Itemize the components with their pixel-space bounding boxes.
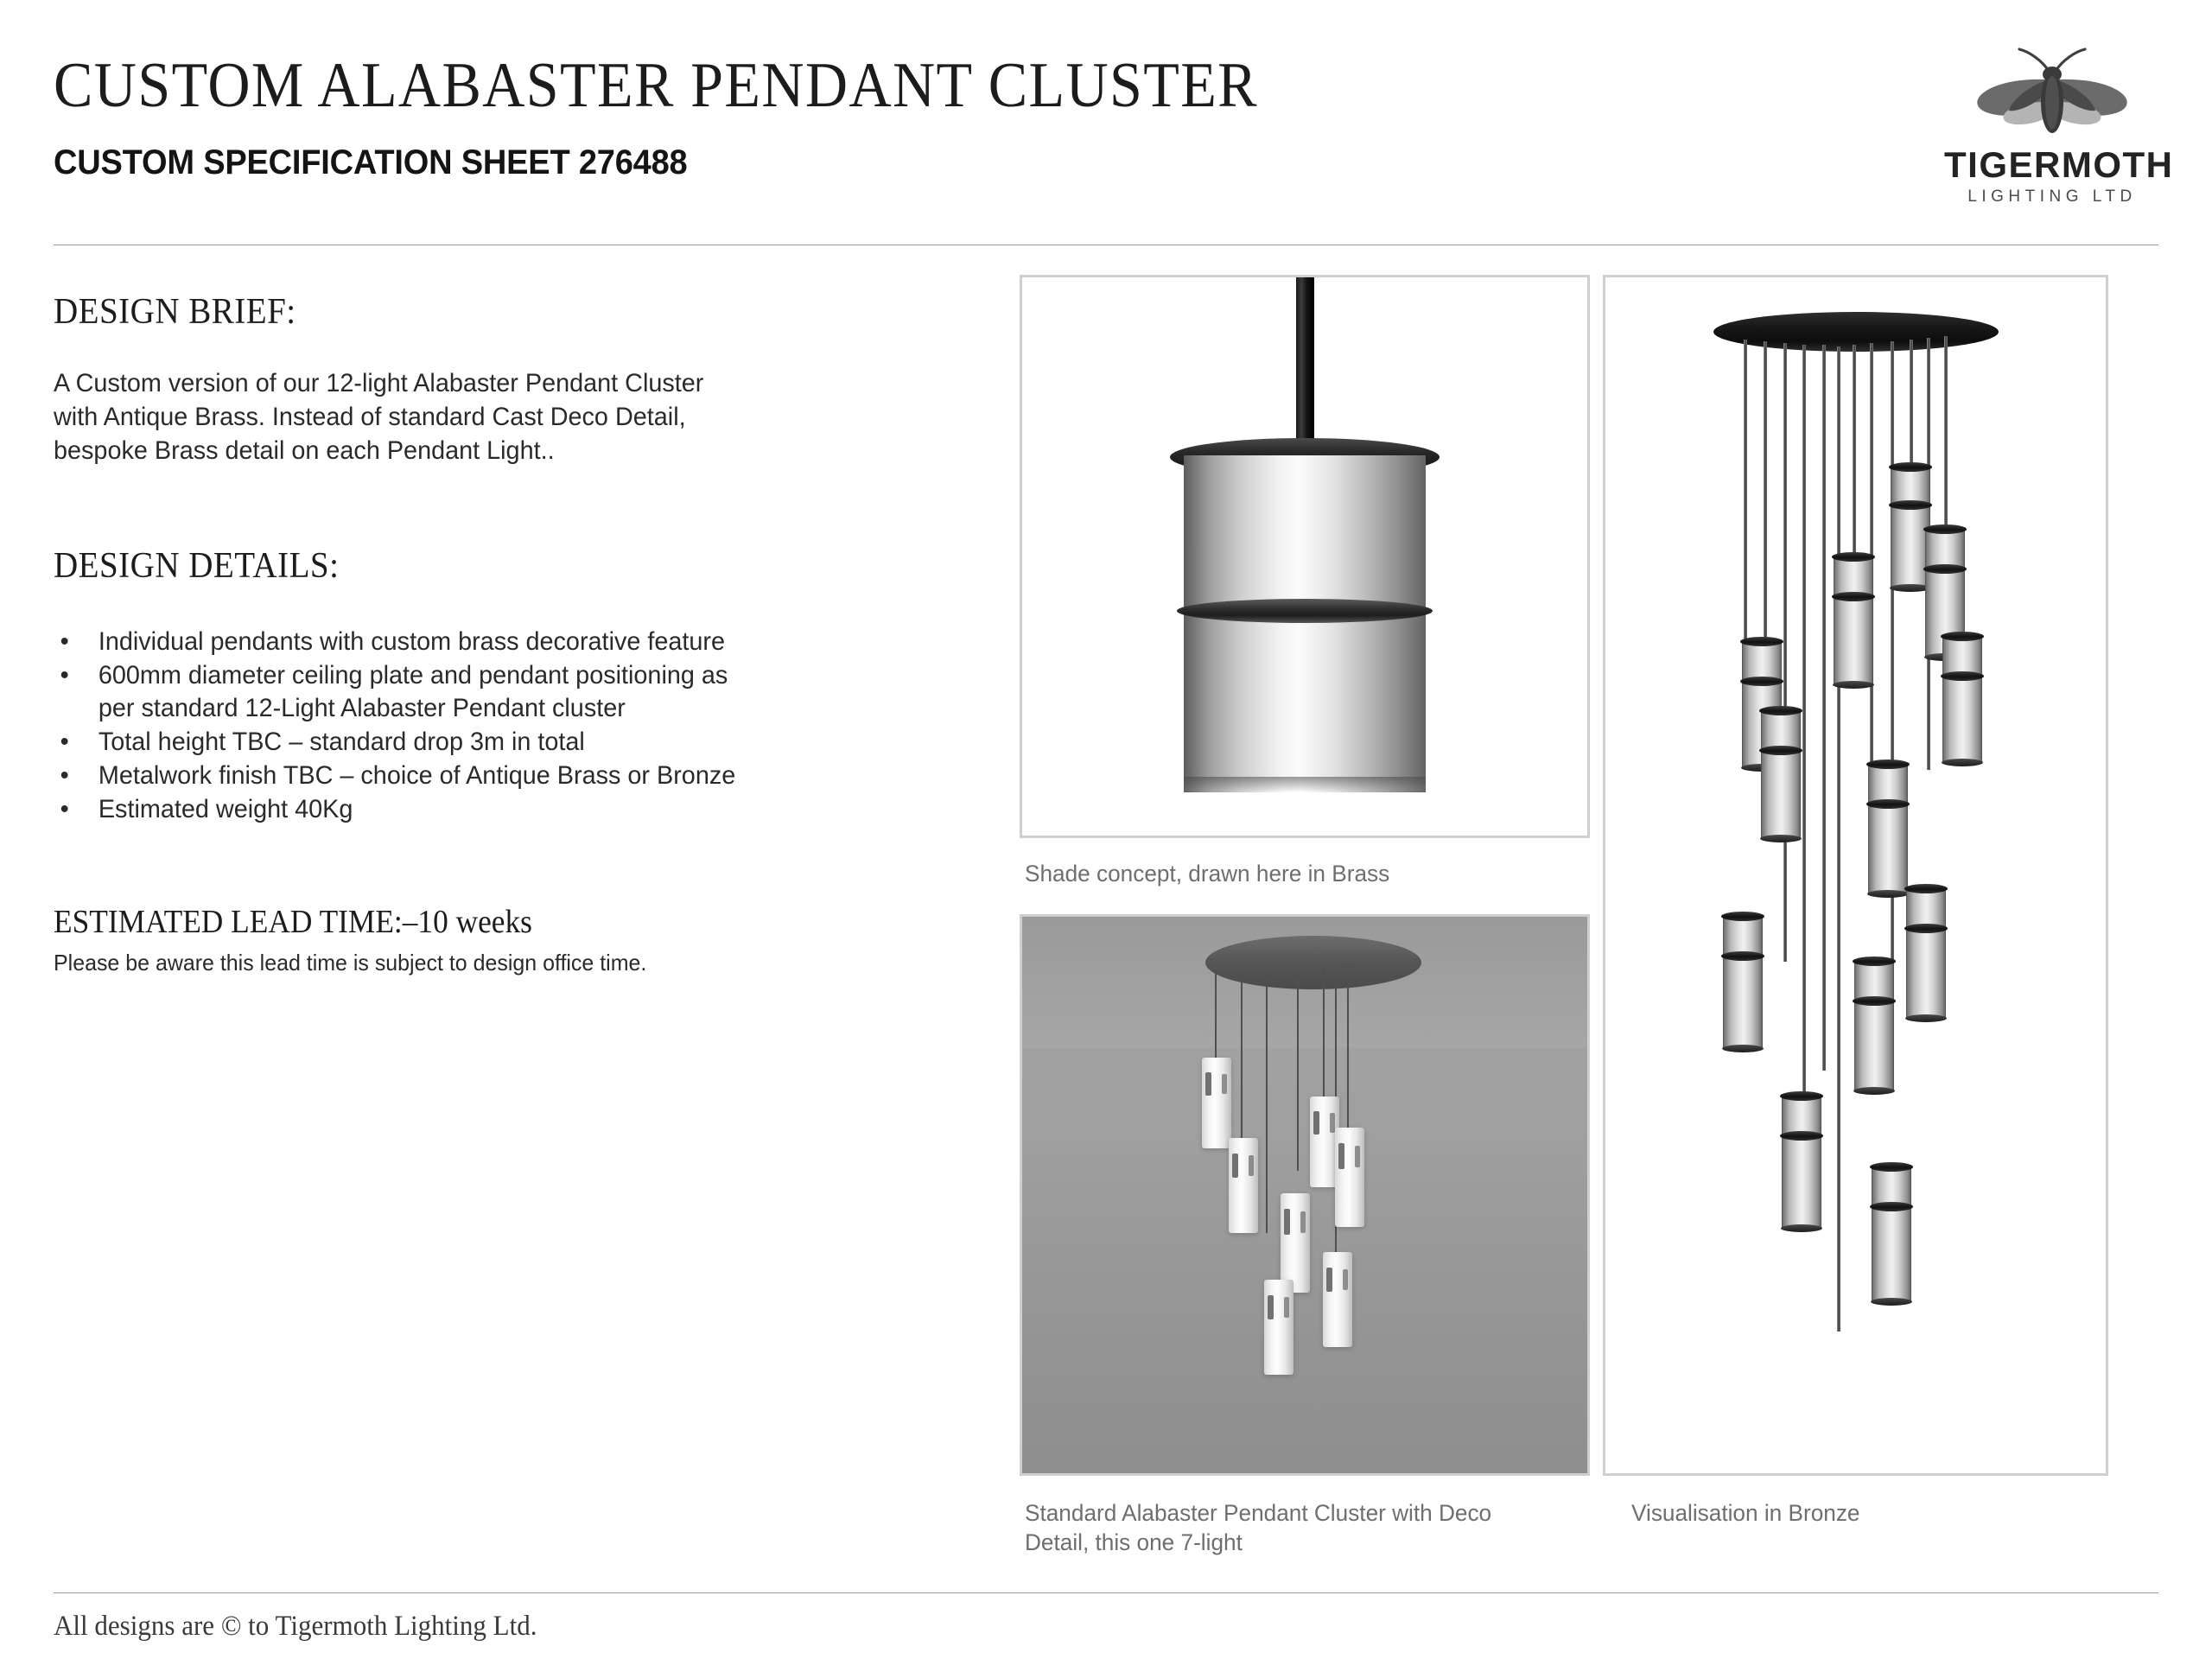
standard-cluster-photo-caption: Standard Alabaster Pendant Cluster with … — [1025, 1498, 1603, 1557]
list-item: • Estimated weight 40Kg — [54, 793, 916, 826]
visualisation-pendant — [1906, 887, 1946, 1019]
visualisation-pendant — [1872, 1166, 1911, 1302]
shade-cylinder — [1184, 455, 1426, 792]
lead-time-block: ESTIMATED LEAD TIME:–10 weeks Please be … — [54, 906, 952, 976]
pendant-band-mid — [1721, 951, 1764, 961]
list-item-text: Metalwork finish TBC – choice of Antique… — [99, 761, 735, 790]
list-item-text-cont: per standard 12-Light Alabaster Pendant … — [99, 692, 917, 725]
pendant-band-top — [1780, 1091, 1823, 1101]
pendant-band-top — [1870, 1162, 1913, 1172]
list-item-text: Total height TBC – standard drop 3m in t… — [99, 728, 585, 756]
photo-cable — [1215, 969, 1217, 1059]
visualisation-rod — [1783, 343, 1787, 962]
pendant-band-top — [1759, 706, 1802, 715]
pendant-band-mid — [1832, 592, 1875, 601]
pendant-band-bottom — [1942, 759, 1983, 766]
lead-time-note: Please be aware this lead time is subjec… — [54, 949, 916, 976]
pendant-band-mid — [1923, 564, 1967, 574]
shade-concept-drawing — [1022, 277, 1587, 836]
pendant-band-mid — [1740, 677, 1783, 686]
pendant-band-bottom — [1781, 1224, 1822, 1232]
suspension-rod — [1296, 277, 1314, 450]
pendant-band-bottom — [1867, 890, 1909, 898]
pendant-band-bottom — [1760, 835, 1802, 842]
logo-wordmark: TIGERMOTH — [1944, 147, 2160, 183]
visualisation-pendant — [1782, 1095, 1821, 1229]
photo-pendant-shade — [1202, 1058, 1231, 1148]
pendant-band-top — [1866, 760, 1910, 769]
list-item: • Metalwork finish TBC – choice of Antiq… — [54, 760, 916, 792]
bullet-marker: • — [60, 659, 69, 692]
pendant-band-mid — [1853, 996, 1896, 1006]
left-content-column: DESIGN BRIEF: A Custom version of our 12… — [54, 294, 952, 976]
lead-time-heading: ESTIMATED LEAD TIME:–10 weeks — [54, 906, 889, 938]
visualisation-pendant — [1761, 709, 1801, 839]
pendant-band-mid — [1904, 924, 1948, 933]
visualisation-rod — [1837, 346, 1840, 1332]
pendant-band-bottom — [1722, 1045, 1764, 1052]
visualisation-rod — [1822, 345, 1826, 1071]
pendant-band-bottom — [1853, 1087, 1895, 1095]
bronze-visualisation-drawing — [1605, 277, 2106, 1473]
caption-line: Standard Alabaster Pendant Cluster with … — [1025, 1498, 1603, 1528]
standard-cluster-photo — [1022, 917, 1587, 1473]
pendant-band-mid — [1870, 1202, 1913, 1211]
visualisation-rod — [1891, 341, 1894, 998]
bullet-marker: • — [60, 793, 69, 826]
photo-cable — [1241, 972, 1243, 1141]
photo-cable — [1297, 972, 1299, 1171]
visualisation-pendant — [1854, 960, 1894, 1091]
bronze-visualisation-figure — [1603, 275, 2108, 1476]
pendant-band-top — [1889, 462, 1932, 472]
list-item: • Individual pendants with custom brass … — [54, 626, 916, 658]
photo-pendant-shade — [1335, 1128, 1364, 1227]
pendant-band-bottom — [1871, 1298, 1912, 1306]
brief-line: bespoke Brass detail on each Pendant Lig… — [54, 434, 916, 467]
pendant-band-top — [1923, 524, 1967, 534]
standard-cluster-photo-figure — [1020, 914, 1590, 1476]
pendant-band-top — [1740, 637, 1783, 646]
shade-concept-figure — [1020, 275, 1590, 838]
spec-sheet-page: CUSTOM ALABASTER PENDANT CLUSTER CUSTOM … — [0, 0, 2212, 1659]
brief-line: A Custom version of our 12-light Alabast… — [54, 366, 916, 400]
company-logo: TIGERMOTH LIGHTING LTD — [1944, 45, 2160, 205]
pendant-band-top — [1904, 884, 1948, 893]
design-brief-body: A Custom version of our 12-light Alabast… — [54, 366, 916, 467]
pendant-band-mid — [1759, 746, 1802, 755]
brief-line: with Antique Brass. Instead of standard … — [54, 400, 916, 434]
pendant-band-bottom — [1905, 1014, 1947, 1022]
photo-cable — [1347, 965, 1349, 1129]
pendant-band-mid — [1780, 1131, 1823, 1141]
footer-copyright: All designs are © to Tigermoth Lighting … — [54, 1612, 537, 1641]
list-item-text: 600mm diameter ceiling plate and pendant… — [99, 661, 728, 690]
pendant-band-mid — [1941, 671, 1984, 681]
design-details-heading: DESIGN DETAILS: — [54, 548, 889, 584]
bullet-marker: • — [60, 760, 69, 792]
photo-cable — [1266, 974, 1268, 1233]
pendant-band-mid — [1889, 500, 1932, 510]
photo-pendant-shade — [1323, 1252, 1352, 1347]
photo-pendant-shade — [1229, 1138, 1258, 1233]
visualisation-pendant — [1942, 635, 1982, 763]
page-title: CUSTOM ALABASTER PENDANT CLUSTER — [54, 54, 1258, 118]
shade-band-ring — [1177, 599, 1433, 623]
pendant-band-mid — [1866, 799, 1910, 809]
photo-cable — [1323, 969, 1325, 1098]
list-item: • Total height TBC – standard drop 3m in… — [54, 726, 916, 759]
bullet-marker: • — [60, 726, 69, 759]
pendant-band-top — [1832, 552, 1875, 562]
photo-pendant-shade — [1281, 1193, 1310, 1293]
caption-line: Detail, this one 7-light — [1025, 1528, 1603, 1557]
moth-icon — [1966, 45, 2139, 149]
shade-lower-shadow — [1184, 777, 1426, 791]
bronze-visualisation-caption: Visualisation in Bronze — [1631, 1498, 2101, 1528]
shade-concept-caption: Shade concept, drawn here in Brass — [1025, 859, 1595, 888]
design-details-list: • Individual pendants with custom brass … — [54, 626, 952, 826]
pendant-band-top — [1721, 912, 1764, 921]
header-divider — [54, 245, 2158, 245]
design-brief-heading: DESIGN BRIEF: — [54, 294, 889, 330]
visualisation-pendant — [1868, 763, 1908, 894]
footer-divider — [54, 1592, 2158, 1593]
visualisation-pendant — [1723, 915, 1763, 1049]
list-item-text: Individual pendants with custom brass de… — [99, 627, 725, 656]
photo-pendant-shade — [1264, 1280, 1294, 1375]
visualisation-pendant — [1834, 556, 1873, 685]
page-subtitle: CUSTOM SPECIFICATION SHEET 276488 — [54, 145, 688, 180]
list-item-text: Estimated weight 40Kg — [99, 795, 353, 823]
pendant-band-top — [1853, 957, 1896, 966]
logo-tagline: LIGHTING LTD — [1944, 188, 2160, 205]
list-item: • 600mm diameter ceiling plate and penda… — [54, 659, 916, 725]
page-header: CUSTOM ALABASTER PENDANT CLUSTER CUSTOM … — [0, 0, 2212, 245]
pendant-band-bottom — [1833, 681, 1874, 689]
photo-ceiling-plate — [1205, 936, 1421, 989]
bullet-marker: • — [60, 626, 69, 658]
visualisation-rod — [1802, 345, 1806, 1197]
pendant-band-top — [1941, 632, 1984, 641]
